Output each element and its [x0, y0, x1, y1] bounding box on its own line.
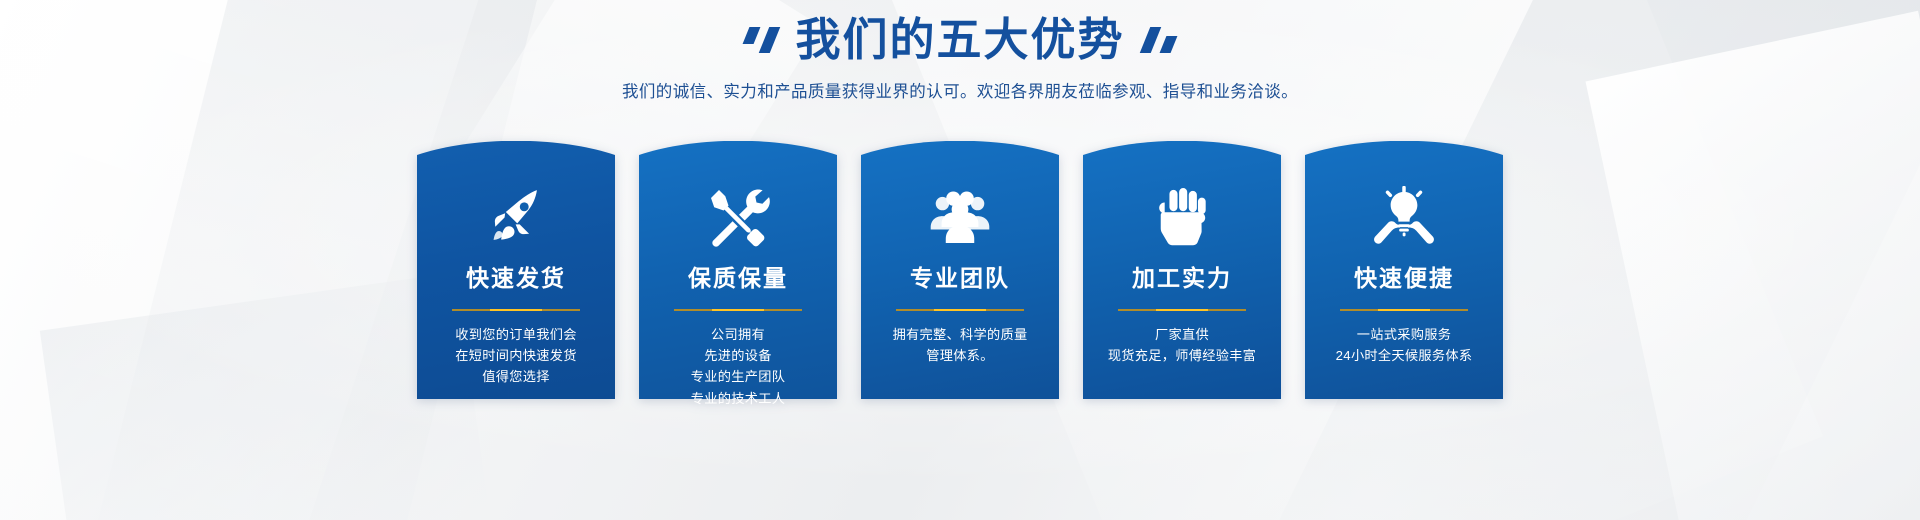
page-title: 我们的五大优势 — [795, 16, 1124, 63]
title-row: 我们的五大优势 — [0, 16, 1920, 63]
people-group-icon — [861, 179, 1059, 255]
gold-divider — [674, 309, 802, 311]
desc-line: 值得您选择 — [417, 366, 615, 387]
advantage-card-list: 快速发货 收到您的订单我们会 在短时间内快速发货 值得您选择 — [0, 141, 1920, 399]
card-description: 厂家直供 现货充足，师傅经验丰富 — [1083, 324, 1281, 367]
page-subtitle: 我们的诚信、实力和产品质量获得业界的认可。欢迎各界朋友莅临参观、指导和业务洽谈。 — [0, 78, 1920, 102]
desc-line: 在短时间内快速发货 — [417, 345, 615, 366]
desc-line: 管理体系。 — [861, 345, 1059, 366]
card-description: 公司拥有 先进的设备 专业的生产团队 专业的技术工人 — [639, 324, 837, 410]
fist-icon — [1083, 179, 1281, 255]
advantage-card[interactable]: 专业团队 拥有完整、科学的质量 管理体系。 — [861, 141, 1059, 399]
advantages-banner: 我们的五大优势 我们的诚信、实力和产品质量获得业界的认可。欢迎各界朋友莅临参观、… — [0, 0, 1920, 520]
card-title: 加工实力 — [1083, 265, 1281, 293]
wrench-screwdriver-icon — [639, 179, 837, 255]
card-title: 保质保量 — [639, 265, 837, 293]
desc-line: 专业的生产团队 — [639, 366, 837, 387]
desc-line: 公司拥有 — [639, 324, 837, 345]
lightbulb-in-hands-icon — [1305, 179, 1503, 255]
advantage-card[interactable]: 快速便捷 一站式采购服务 24小时全天候服务体系 — [1305, 141, 1503, 399]
desc-line: 厂家直供 — [1083, 324, 1281, 345]
advantage-card[interactable]: 保质保量 公司拥有 先进的设备 专业的生产团队 专业的技术工人 — [639, 141, 837, 399]
gold-divider — [896, 309, 1024, 311]
desc-line: 24小时全天候服务体系 — [1305, 345, 1503, 366]
advantage-card[interactable]: 加工实力 厂家直供 现货充足，师傅经验丰富 — [1083, 141, 1281, 399]
gold-divider — [1118, 309, 1246, 311]
slash-decoration-left-icon — [746, 27, 775, 53]
card-description: 收到您的订单我们会 在短时间内快速发货 值得您选择 — [417, 324, 615, 388]
rocket-icon — [417, 179, 615, 255]
slash-decoration-right-icon — [1145, 27, 1174, 53]
advantage-card[interactable]: 快速发货 收到您的订单我们会 在短时间内快速发货 值得您选择 — [417, 141, 615, 399]
gold-divider — [452, 309, 580, 311]
desc-line: 现货充足，师傅经验丰富 — [1083, 345, 1281, 366]
card-description: 一站式采购服务 24小时全天候服务体系 — [1305, 324, 1503, 367]
card-title: 快速便捷 — [1305, 265, 1503, 293]
card-title: 专业团队 — [861, 265, 1059, 293]
desc-line: 先进的设备 — [639, 345, 837, 366]
desc-line: 一站式采购服务 — [1305, 324, 1503, 345]
section-header: 我们的五大优势 我们的诚信、实力和产品质量获得业界的认可。欢迎各界朋友莅临参观、… — [0, 16, 1920, 102]
desc-line: 专业的技术工人 — [639, 388, 837, 409]
gold-divider — [1340, 309, 1468, 311]
card-title: 快速发货 — [417, 265, 615, 293]
desc-line: 收到您的订单我们会 — [417, 324, 615, 345]
desc-line: 拥有完整、科学的质量 — [861, 324, 1059, 345]
card-description: 拥有完整、科学的质量 管理体系。 — [861, 324, 1059, 367]
